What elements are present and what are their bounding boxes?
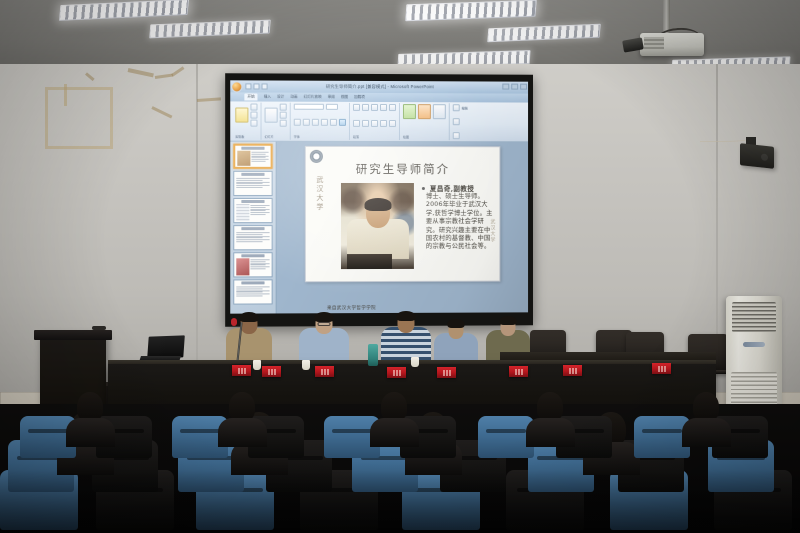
photo-foreground-object (347, 254, 392, 269)
eyeglasses-icon (318, 322, 331, 326)
thumbnail-text-lines (236, 177, 269, 194)
line-spacing-icon[interactable] (389, 104, 396, 111)
seat-handle (642, 429, 682, 433)
slide-person-name: 夏昌奇,副教授 (430, 183, 492, 193)
thumbnail-number: 1 (233, 146, 234, 149)
underline-icon[interactable] (312, 119, 319, 126)
italic-icon[interactable] (303, 119, 310, 126)
ribbon-group-clipboard[interactable]: 剪贴板 (232, 102, 261, 139)
quick-styles-icon[interactable] (433, 104, 446, 119)
ribbon-group-label: 幻灯片 (265, 135, 287, 139)
ribbon-group-label: 段落 (353, 135, 396, 139)
new-slide-icon[interactable] (265, 108, 278, 123)
thumbnail-body (237, 151, 268, 166)
thumbnail-text-lines (250, 204, 269, 221)
ribbon-tab-2[interactable]: 设计 (277, 95, 284, 100)
powerpoint-workspace: 123456 武汉大学 研究生导师简介 (230, 142, 528, 314)
thumbnail-image (237, 151, 250, 166)
thermos-bottle (368, 344, 378, 366)
bullet-icon (422, 187, 425, 190)
format-painter-icon[interactable] (250, 120, 257, 127)
thumbnail-body (236, 231, 269, 248)
seat-handle (28, 429, 68, 433)
wall-speaker-icon (740, 143, 774, 169)
slide-canvas-area[interactable]: 武汉大学 研究生导师简介 夏昌奇,副教授 博士、硕士生导师。2006年毕业于武汉… (277, 142, 528, 314)
slide-thumbnail[interactable]: 1 (233, 144, 272, 169)
current-slide[interactable]: 武汉大学 研究生导师简介 夏昌奇,副教授 博士、硕士生导师。2006年毕业于武汉… (305, 146, 501, 282)
font-family-select[interactable] (294, 104, 324, 110)
panelist-hair (448, 319, 465, 328)
thumbnail-body (236, 204, 269, 221)
maximize-icon[interactable] (511, 84, 518, 90)
lectern-microphone-icon (92, 326, 106, 330)
thumbnail-image (236, 204, 249, 221)
audience-shoulders (682, 418, 731, 447)
close-icon[interactable] (520, 84, 527, 90)
decrease-indent-icon[interactable] (371, 104, 378, 111)
projection-screen: 研究生导师简介.ppt [兼容模式] - Microsoft PowerPoin… (225, 73, 533, 327)
red-nameplate (315, 366, 334, 377)
find-label: 编辑 (462, 106, 468, 110)
select-icon[interactable] (453, 132, 460, 139)
slide-thumbnail[interactable]: 3 (233, 198, 272, 223)
thumbnail-title-bar (241, 173, 265, 176)
paste-icon[interactable] (235, 107, 248, 122)
thumbnail-title-bar (241, 227, 265, 230)
ribbon-tab-0[interactable]: 开始 (244, 93, 257, 100)
justify-icon[interactable] (380, 120, 387, 127)
office-button-icon[interactable] (231, 81, 242, 92)
thumbnail-title-bar (242, 147, 265, 150)
audience-shoulders (218, 418, 267, 447)
ribbon-group-label: 剪贴板 (235, 135, 257, 139)
red-nameplate (387, 367, 406, 378)
font-color-icon[interactable] (339, 119, 346, 126)
ac-top-vent (732, 302, 776, 332)
slide-side-vertical-text: 武汉大学 (486, 219, 496, 243)
thumbnail-text-lines (236, 285, 269, 302)
ribbon-tab-6[interactable]: 视图 (341, 95, 348, 100)
paper-cup (253, 360, 261, 370)
delete-slide-icon[interactable] (280, 120, 287, 127)
wall-seam (196, 64, 198, 394)
red-nameplate (509, 366, 528, 377)
increase-indent-icon[interactable] (380, 104, 387, 111)
align-center-icon[interactable] (362, 119, 369, 126)
slide-thumbnail[interactable]: 2 (233, 171, 272, 196)
thumbnail-title-bar (241, 254, 265, 257)
panelist-hair (315, 312, 334, 322)
ribbon-group-slides[interactable]: 幻灯片 (262, 103, 291, 140)
wall-stain-frame (45, 87, 113, 149)
slide-title: 研究生导师简介 (306, 161, 500, 177)
slide-footer-note: 来自武汉大学哲学学院 (327, 305, 376, 311)
cut-icon[interactable] (250, 104, 257, 111)
ribbon-group-editing[interactable]: 编辑 (450, 103, 471, 140)
microphone-icon (231, 318, 237, 326)
seat-handle (486, 429, 526, 433)
bold-icon[interactable] (294, 119, 301, 126)
thumbnail-image (236, 258, 249, 275)
save-icon[interactable] (245, 83, 251, 89)
slide-person-bio: 博士、硕士生导师。2006年毕业于武汉大学,获哲学博士学位。主要从事宗教社会学研… (426, 193, 494, 252)
seat-handle (180, 429, 220, 433)
panelist-hair (240, 312, 259, 322)
shapes-gallery-icon[interactable] (403, 104, 416, 119)
ribbon-group-font[interactable]: 字体 (291, 103, 350, 140)
lecture-hall-scene: 研究生导师简介.ppt [兼容模式] - Microsoft PowerPoin… (0, 0, 800, 533)
red-nameplate (232, 365, 251, 376)
slide-thumbnail[interactable]: 5 (233, 252, 272, 277)
align-right-icon[interactable] (371, 119, 378, 126)
ribbon-group-label: 字体 (294, 135, 346, 139)
bullets-icon[interactable] (353, 104, 360, 111)
lectern-top (34, 330, 112, 340)
panelist-hair (500, 316, 517, 325)
window-title: 研究生导师简介.ppt [兼容模式] - Microsoft PowerPoin… (326, 84, 434, 90)
minimize-icon[interactable] (502, 84, 509, 90)
photo-hair (364, 198, 391, 211)
thumbnail-text-lines (236, 231, 269, 248)
seat-handle (332, 429, 372, 433)
red-nameplate (563, 365, 582, 376)
font-size-select[interactable] (326, 104, 338, 110)
slide-thumbnail-pane[interactable]: 123456 (230, 142, 276, 314)
ribbon-group-drawing[interactable]: 绘图 (400, 103, 450, 140)
thumbnail-body (236, 258, 269, 275)
shadow-icon[interactable] (330, 119, 337, 126)
ribbon-tab-5[interactable]: 审阅 (328, 95, 335, 100)
projected-desktop: 研究生导师简介.ppt [兼容模式] - Microsoft PowerPoin… (230, 80, 528, 313)
ac-display-panel (743, 342, 765, 347)
window-buttons[interactable] (502, 84, 527, 90)
thumbnail-text-lines (251, 151, 268, 166)
paper-cup (302, 360, 310, 370)
strikethrough-icon[interactable] (321, 119, 328, 126)
ribbon-tab-7[interactable]: 加载项 (354, 95, 365, 100)
thumbnail-body (236, 177, 269, 194)
arrange-icon[interactable] (418, 104, 431, 119)
redo-icon[interactable] (262, 83, 268, 89)
undo-icon[interactable] (253, 83, 259, 89)
red-nameplate (437, 367, 456, 378)
slide-thumbnail[interactable]: 6 (233, 279, 272, 304)
thumbnail-text-lines (250, 258, 269, 275)
replace-icon[interactable] (453, 118, 460, 125)
red-nameplate (262, 366, 281, 377)
ribbon-group-label: 绘图 (403, 135, 446, 139)
align-left-icon[interactable] (353, 119, 360, 126)
numbering-icon[interactable] (362, 104, 369, 111)
ribbon-group-paragraph[interactable]: 段落 (350, 103, 400, 140)
find-icon[interactable] (453, 104, 460, 111)
panelist-hair (397, 311, 416, 321)
powerpoint-titlebar: 研究生导师简介.ppt [兼容模式] - Microsoft PowerPoin… (230, 80, 528, 93)
thumbnail-body (236, 285, 269, 302)
audience-shoulders (370, 418, 419, 447)
slide-thumbnail[interactable]: 4 (233, 225, 272, 250)
portrait-photo (341, 183, 414, 269)
copy-icon[interactable] (250, 112, 257, 119)
reset-icon[interactable] (280, 112, 287, 119)
audience-shoulders (66, 418, 115, 447)
columns-icon[interactable] (389, 120, 396, 127)
ribbon-tab-1[interactable]: 插入 (264, 95, 271, 100)
paper-cup (411, 357, 419, 367)
red-nameplate (652, 363, 671, 374)
projector-icon (640, 33, 704, 56)
quick-access-toolbar[interactable] (245, 83, 267, 89)
ribbon[interactable]: 剪贴板 幻灯片 (230, 101, 528, 142)
audience-shoulders (526, 418, 575, 447)
thumbnail-title-bar (241, 200, 265, 203)
ribbon-tab-3[interactable]: 动画 (290, 95, 297, 100)
layout-icon[interactable] (280, 104, 287, 111)
ribbon-tab-4[interactable]: 幻灯片放映 (304, 95, 322, 100)
thumbnail-title-bar (241, 281, 265, 284)
